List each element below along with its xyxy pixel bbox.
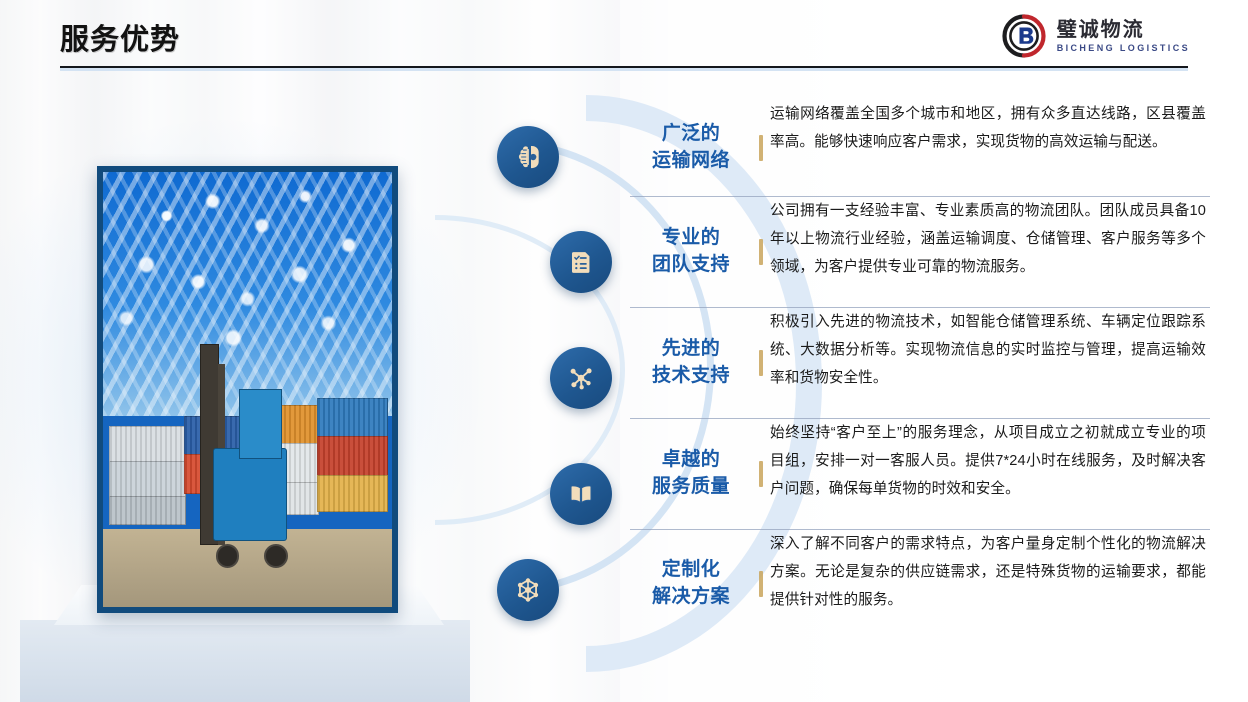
company-logo: 璧诚物流 BICHENG LOGISTICS	[1001, 12, 1190, 60]
feature-photo	[103, 172, 392, 607]
feature-icon-5[interactable]	[497, 559, 559, 621]
feature-title-4-line2: 服务质量	[630, 474, 752, 501]
feature-body-4: 始终坚持“客户至上”的服务理念，从项目成立之初就成立专业的项目组，安排一对一客服…	[770, 419, 1210, 503]
feature-title-3-line1: 先进的	[630, 336, 752, 363]
slide-header: 服务优势 璧诚物流 BICHENG LOGISTICS	[0, 0, 1248, 72]
feature-icon-2[interactable]	[550, 231, 612, 293]
feature-body-1: 运输网络覆盖全国多个城市和地区，拥有众多直达线路，区县覆盖率高。能够快速响应客户…	[770, 100, 1210, 156]
feature-title-5-line2: 解决方案	[630, 584, 752, 611]
feature-row-5: 定制化 解决方案 深入了解不同客户的需求特点，为客户量身定制个性化的物流解决方案…	[630, 530, 1210, 638]
logo-mark-icon	[1001, 13, 1047, 59]
feature-title-2-line1: 专业的	[630, 225, 752, 252]
feature-title-3-line2: 技术支持	[630, 363, 752, 390]
open-book-icon	[566, 479, 596, 509]
feature-row-1: 广泛的 运输网络 运输网络覆盖全国多个城市和地区，拥有众多直达线路，区县覆盖率高…	[630, 100, 1210, 196]
photo-forklift	[193, 346, 309, 572]
feature-row-3: 先进的 技术支持 积极引入先进的物流技术，如智能仓储管理系统、车辆定位跟踪系统、…	[630, 308, 1210, 418]
feature-title-3: 先进的 技术支持	[630, 336, 752, 390]
pedestal-base	[20, 620, 470, 702]
feature-tick-1	[752, 135, 770, 161]
logo-name-en: BICHENG LOGISTICS	[1057, 44, 1190, 53]
feature-title-4: 卓越的 服务质量	[630, 447, 752, 501]
network-nodes-icon	[566, 363, 596, 393]
feature-title-2: 专业的 团队支持	[630, 225, 752, 279]
feature-title-2-line2: 团队支持	[630, 252, 752, 279]
feature-body-2: 公司拥有一支经验丰富、专业素质高的物流团队。团队成员具备10年以上物流行业经验，…	[770, 197, 1210, 281]
feature-tick-3	[752, 350, 770, 376]
feature-title-5-line1: 定制化	[630, 557, 752, 584]
header-rule-accent	[60, 68, 1188, 71]
feature-tick-4	[752, 461, 770, 487]
feature-title-4-line1: 卓越的	[630, 447, 752, 474]
feature-photo-frame	[97, 166, 398, 613]
gear-brain-icon	[513, 142, 543, 172]
feature-title-1-line1: 广泛的	[630, 121, 752, 148]
feature-body-5: 深入了解不同客户的需求特点，为客户量身定制个性化的物流解决方案。无论是复杂的供应…	[770, 530, 1210, 614]
feature-row-2: 专业的 团队支持 公司拥有一支经验丰富、专业素质高的物流团队。团队成员具备10年…	[630, 197, 1210, 307]
feature-icon-4[interactable]	[550, 463, 612, 525]
logo-wordmark: 璧诚物流 BICHENG LOGISTICS	[1057, 20, 1190, 53]
feature-body-3: 积极引入先进的物流技术，如智能仓储管理系统、车辆定位跟踪系统、大数据分析等。实现…	[770, 308, 1210, 392]
slide-root: 服务优势 璧诚物流 BICHENG LOGISTICS	[0, 0, 1248, 702]
page-title: 服务优势	[60, 16, 180, 58]
feature-title-5: 定制化 解决方案	[630, 557, 752, 611]
hex-hub-icon	[513, 575, 543, 605]
logo-name-cn: 璧诚物流	[1057, 20, 1190, 40]
feature-tick-5	[752, 571, 770, 597]
feature-icon-1[interactable]	[497, 126, 559, 188]
feature-icon-3[interactable]	[550, 347, 612, 409]
feature-title-1-line2: 运输网络	[630, 148, 752, 175]
feature-title-1: 广泛的 运输网络	[630, 121, 752, 175]
checklist-document-icon	[566, 247, 596, 277]
feature-tick-2	[752, 239, 770, 265]
feature-list: 广泛的 运输网络 运输网络覆盖全国多个城市和地区，拥有众多直达线路，区县覆盖率高…	[630, 100, 1210, 638]
feature-row-4: 卓越的 服务质量 始终坚持“客户至上”的服务理念，从项目成立之初就成立专业的项目…	[630, 419, 1210, 529]
